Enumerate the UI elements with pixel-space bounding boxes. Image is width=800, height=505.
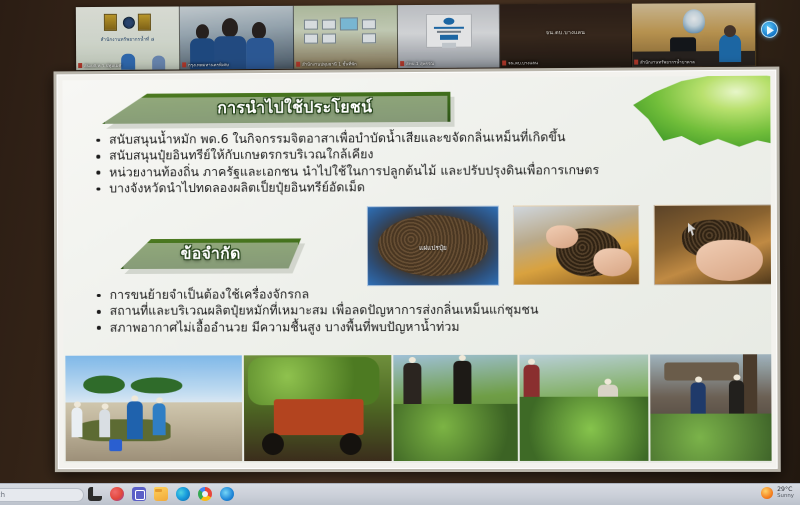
vc-tile-banner-room[interactable]: สทบ.1 สุพรรณ [398,4,500,68]
section-header-limitations: ข้อจำกัด [120,238,301,269]
vc-tile-meeting-people[interactable]: กรุงเทพมหานครพิเศษ [180,6,294,70]
wall-display-icon [322,19,336,29]
vc-tile-caption: จน.ดบ.บางแลน [502,59,538,66]
list-item: การขนย้ายจำเป็นต้องใช้เครื่องจักรกล [95,286,539,304]
wall-display-icon [362,33,376,43]
list-item: สถานที่และบริเวณผลิตปุ๋ยหมักที่เหมาะสม เ… [95,302,539,320]
worker-figure [99,409,110,437]
photo-truck-loaded-with-greens [244,355,392,461]
royal-portrait-icon [104,14,117,31]
foliage-region [650,414,771,461]
wall-display-icon [322,33,336,43]
hand-shape [594,248,632,276]
screen-photograph: สำนักงานทรัพยากรน้ำที่ ๘ สนง.ศ.ท.ว.ปทุมเ… [0,0,800,505]
hand-shape [697,240,764,281]
vc-tile-local-office[interactable]: สำนักงานทรัพยากรน้ำที่ ๘ สนง.ศ.ท.ว.ปทุมเ… [76,6,180,70]
event-banner-icon [426,14,472,48]
projection-screen-frame: การนำไปใช้ประโยชน์ สนับสนุนน้ำหมัก พด.6 … [53,67,780,473]
worker-figure [691,383,706,417]
foliage-region [520,397,649,461]
system-tray[interactable]: 29°C Sunny [761,487,794,499]
vc-tile-caption: สำนักงานทรัพยากรน้ำบาดาล [634,58,695,65]
shelter-roof [664,362,739,380]
start-icon[interactable] [88,487,102,501]
truck-wheel [262,433,284,455]
foliage-region [393,404,517,461]
main-projection-icon [340,17,358,30]
wall-display-icon [304,34,318,44]
photo-compost-in-hand [654,204,772,285]
vc-participant-silhouette [152,56,165,70]
green-waste-pile [248,357,380,405]
vc-tile-name-label: จน.ดบ.บางแลน [500,29,631,38]
taskbar-icon-group [88,487,234,501]
tree-shape [131,377,183,393]
worker-figure [71,407,82,437]
bottom-photo-strip [63,354,771,463]
worker-figure [453,361,471,405]
vc-tile-dark-name[interactable]: จน.ดบ.บางแลน จน.ดบ.บางแลน [500,4,632,68]
worker-figure [153,403,166,435]
photo-compost-spread-on-tarp: แผ่แปรปุ๋ย [367,206,499,287]
wall-display-icon [304,20,318,30]
vc-tile-caption: สนง.ศ.ท.ว.ปทุมเมศ [78,62,121,69]
search-placeholder-text: Search [0,491,5,499]
file-explorer-icon[interactable] [154,487,168,501]
photo-caption: แผ่แปรปุ๋ย [368,243,498,254]
tree-trunk [743,354,757,414]
section-header-usage: การนำไปใช้ประโยชน์ [102,92,450,124]
photo-tree-nursery-under-shade [650,354,771,461]
wall-display-icon [362,19,376,29]
list-item: บางจังหวัดนำไปทดลองผลิตเป็ยปุ๋ยอินทรีย์อ… [94,178,599,197]
section-title-text: การนำไปใช้ประโยชน์ [217,95,372,121]
vc-participant-head [252,22,266,39]
government-seal-icon [123,17,135,29]
photo-workers-unloading-plants [393,355,518,461]
browser-icon[interactable] [220,487,234,501]
vc-tile-emblem-office[interactable]: สำนักงานทรัพยากรน้ำบาดาล [632,3,756,67]
worker-figure [403,363,421,409]
vc-participant-silhouette [121,54,135,70]
vc-participant-head [222,18,238,37]
video-conference-strip: สำนักงานทรัพยากรน้ำที่ ๘ สนง.ศ.ท.ว.ปทุมเ… [76,3,756,70]
presentation-slide: การนำไปใช้ประโยชน์ สนับสนุนน้ำหมัก พด.6 … [62,76,771,463]
section-title-text: ข้อจำกัด [181,241,241,266]
photo-villagers-planting [519,355,648,461]
tree-shape [83,376,125,394]
chrome-icon[interactable] [198,487,212,501]
edge-icon[interactable] [176,487,190,501]
weather-icon [761,487,773,499]
copilot-icon[interactable] [110,487,124,501]
vc-tile-conference-hall[interactable]: สำนักงานปทุมธานี 1 ชั้นที่พัก [294,5,398,69]
bullet-list-limitations: การขนย้ายจำเป็นต้องใช้เครื่องจักรกล สถาน… [95,286,539,336]
truck-wheel [340,433,362,455]
weather-condition: Sunny [777,494,794,500]
teams-icon[interactable] [132,487,146,501]
next-participant-icon[interactable] [761,21,778,38]
worker-figure [127,401,143,439]
vc-tile-org-text: สำนักงานทรัพยากรน้ำที่ ๘ [76,36,179,44]
windows-taskbar: Search 29°C Sunny [0,483,800,505]
vc-participant-body [719,34,741,62]
green-leaf-icon [627,76,772,149]
truck-bed [274,399,364,435]
vc-tile-caption: กรุงเทพมหานครพิเศษ [182,61,229,68]
vc-participant-head [196,24,209,39]
photo-volunteers-turning-compost [65,355,242,461]
worker-figure [729,380,744,416]
vc-tile-caption: สทบ.1 สุพรรณ [400,60,434,67]
blue-bucket [109,439,122,451]
vc-tile-caption: สำนักงานปทุมธานี 1 ชั้นที่พัก [296,60,357,67]
bullet-list-usage: สนับสนุนน้ำหมัก พด.6 ในกิจกรรมจิตอาสาเพื… [94,129,599,197]
list-item: สภาพอากาศไม่เอื้ออำนวย มีความชื้นสูง บาง… [95,318,539,336]
vc-participant-body [246,38,274,69]
weather-widget[interactable]: 29°C Sunny [777,487,794,499]
royal-portrait-icon [138,14,151,31]
department-emblem-icon [682,9,704,33]
search-input[interactable]: Search [0,488,84,502]
photo-compost-bagging [513,205,640,286]
